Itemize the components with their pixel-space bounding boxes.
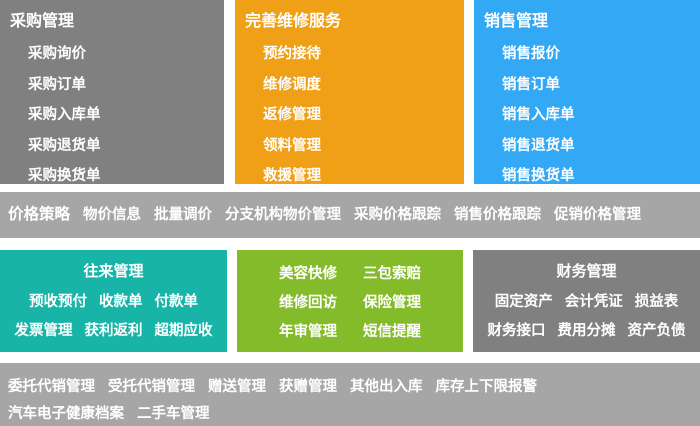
price-strip-item-sales-tracking[interactable]: 销售价格跟踪 [454, 203, 541, 227]
module-item-purchase-return[interactable]: 采购退货单 [28, 139, 101, 154]
item-overdue-ar[interactable]: 超期应收 [155, 324, 213, 339]
module-card-repair[interactable]: 完善维修服务 预约接待 维修调度 返修管理 领料管理 救援管理 [235, 0, 464, 184]
item-annual-inspection[interactable]: 年审管理 [279, 325, 337, 340]
module-card-finance[interactable]: 财务管理 固定资产 会计凭证 损益表 财务接口 费用分摊 资产负债 [473, 250, 700, 352]
erp-module-overview: 采购管理 采购询价 采购订单 采购入库单 采购退货单 采购换货单 完善维修服务 … [0, 0, 700, 426]
item-insurance-mgmt[interactable]: 保险管理 [363, 296, 421, 311]
price-strategy-strip[interactable]: 价格策略 物价信息 批量调价 分支机构物价管理 采购价格跟踪 销售价格跟踪 促销… [0, 192, 700, 238]
consignment-line-2: 汽车电子健康档案 二手车管理 [8, 407, 223, 422]
price-strip-item-price-strategy[interactable]: 价格策略 [8, 203, 70, 227]
module-item-rescue-management[interactable]: 救援管理 [263, 169, 321, 184]
item-used-car-mgmt[interactable]: 二手车管理 [137, 407, 210, 422]
module-card-service[interactable]: 美容快修 三包索赔 维修回访 保险管理 年审管理 短信提醒 [237, 250, 463, 352]
finance-row-2: 财务接口 费用分摊 资产负债 [473, 324, 700, 339]
item-receipt-voucher[interactable]: 收款单 [99, 295, 143, 310]
module-title-finance: 财务管理 [473, 264, 700, 279]
item-expense-allocation[interactable]: 费用分摊 [558, 324, 616, 339]
item-fixed-assets[interactable]: 固定资产 [495, 295, 553, 310]
service-row-1: 美容快修 三包索赔 [237, 267, 463, 282]
module-item-appointment-reception[interactable]: 预约接待 [263, 47, 321, 62]
module-item-purchase-inquiry[interactable]: 采购询价 [28, 47, 101, 62]
module-title-current-account: 往来管理 [0, 264, 227, 279]
price-strip-item-promo-price-mgmt[interactable]: 促销价格管理 [554, 203, 641, 227]
item-payment-voucher[interactable]: 付款单 [155, 295, 199, 310]
item-three-guarantees[interactable]: 三包索赔 [363, 267, 421, 282]
module-item-repair-scheduling[interactable]: 维修调度 [263, 78, 321, 93]
item-vehicle-e-health-record[interactable]: 汽车电子健康档案 [8, 407, 124, 422]
price-strip-item-branch-price-mgmt[interactable]: 分支机构物价管理 [225, 203, 341, 227]
service-row-2: 维修回访 保险管理 [237, 296, 463, 311]
item-prepay-receive[interactable]: 预收预付 [29, 295, 87, 310]
consignment-line-1: 委托代销管理 受托代销管理 赠送管理 获赠管理 其他出入库 库存上下限报警 [8, 380, 550, 395]
item-other-inout-warehouse[interactable]: 其他出入库 [350, 380, 423, 395]
item-stock-limit-alarm[interactable]: 库存上下限报警 [436, 380, 538, 395]
module-item-sales-order[interactable]: 销售订单 [502, 78, 575, 93]
module-item-sales-quotation[interactable]: 销售报价 [502, 47, 575, 62]
item-accounting-voucher[interactable]: 会计凭证 [565, 295, 623, 310]
item-gift-mgmt[interactable]: 赠送管理 [208, 380, 266, 395]
item-repair-followup[interactable]: 维修回访 [279, 296, 337, 311]
item-entrusted-consignment-mgmt[interactable]: 委托代销管理 [8, 380, 95, 395]
module-item-list-repair: 预约接待 维修调度 返修管理 领料管理 救援管理 [263, 47, 321, 184]
consignment-strip[interactable]: 委托代销管理 受托代销管理 赠送管理 获赠管理 其他出入库 库存上下限报警 汽车… [0, 363, 700, 426]
module-item-purchase-order[interactable]: 采购订单 [28, 78, 101, 93]
item-received-gift-mgmt[interactable]: 获赠管理 [279, 380, 337, 395]
price-strategy-item-list: 价格策略 物价信息 批量调价 分支机构物价管理 采购价格跟踪 销售价格跟踪 促销… [0, 203, 654, 227]
current-account-row-2: 发票管理 获利返利 超期应收 [0, 324, 227, 339]
item-sms-reminder[interactable]: 短信提醒 [363, 325, 421, 340]
item-balance-sheet[interactable]: 资产负债 [628, 324, 686, 339]
module-item-material-requisition[interactable]: 领料管理 [263, 139, 321, 154]
item-beauty-quick-repair[interactable]: 美容快修 [279, 267, 337, 282]
item-profit-rebate[interactable]: 获利返利 [85, 324, 143, 339]
module-title-sales: 销售管理 [484, 14, 548, 30]
module-item-rework-management[interactable]: 返修管理 [263, 108, 321, 123]
service-row-3: 年审管理 短信提醒 [237, 325, 463, 340]
item-finance-interface[interactable]: 财务接口 [488, 324, 546, 339]
finance-row-1: 固定资产 会计凭证 损益表 [473, 295, 700, 310]
module-item-sales-return[interactable]: 销售退货单 [502, 139, 575, 154]
item-invoice-mgmt[interactable]: 发票管理 [15, 324, 73, 339]
module-title-purchase: 采购管理 [10, 14, 74, 30]
current-account-row-1: 预收预付 收款单 付款单 [0, 295, 227, 310]
price-strip-item-price-info[interactable]: 物价信息 [83, 203, 141, 227]
price-strip-item-batch-adjust[interactable]: 批量调价 [154, 203, 212, 227]
module-card-current-account[interactable]: 往来管理 预收预付 收款单 付款单 发票管理 获利返利 超期应收 [0, 250, 227, 352]
item-income-statement[interactable]: 损益表 [635, 295, 679, 310]
module-item-sales-exchange[interactable]: 销售换货单 [502, 169, 575, 184]
module-card-purchase[interactable]: 采购管理 采购询价 采购订单 采购入库单 采购退货单 采购换货单 [0, 0, 224, 184]
module-item-purchase-exchange[interactable]: 采购换货单 [28, 169, 101, 184]
module-item-sales-inbound[interactable]: 销售入库单 [502, 108, 575, 123]
module-item-list-sales: 销售报价 销售订单 销售入库单 销售退货单 销售换货单 [502, 47, 575, 184]
module-item-purchase-inbound[interactable]: 采购入库单 [28, 108, 101, 123]
module-title-repair: 完善维修服务 [245, 14, 341, 30]
price-strip-item-purchase-tracking[interactable]: 采购价格跟踪 [354, 203, 441, 227]
module-item-list-purchase: 采购询价 采购订单 采购入库单 采购退货单 采购换货单 [28, 47, 101, 184]
module-card-sales[interactable]: 销售管理 销售报价 销售订单 销售入库单 销售退货单 销售换货单 [474, 0, 700, 184]
item-accepted-consignment-mgmt[interactable]: 受托代销管理 [108, 380, 195, 395]
